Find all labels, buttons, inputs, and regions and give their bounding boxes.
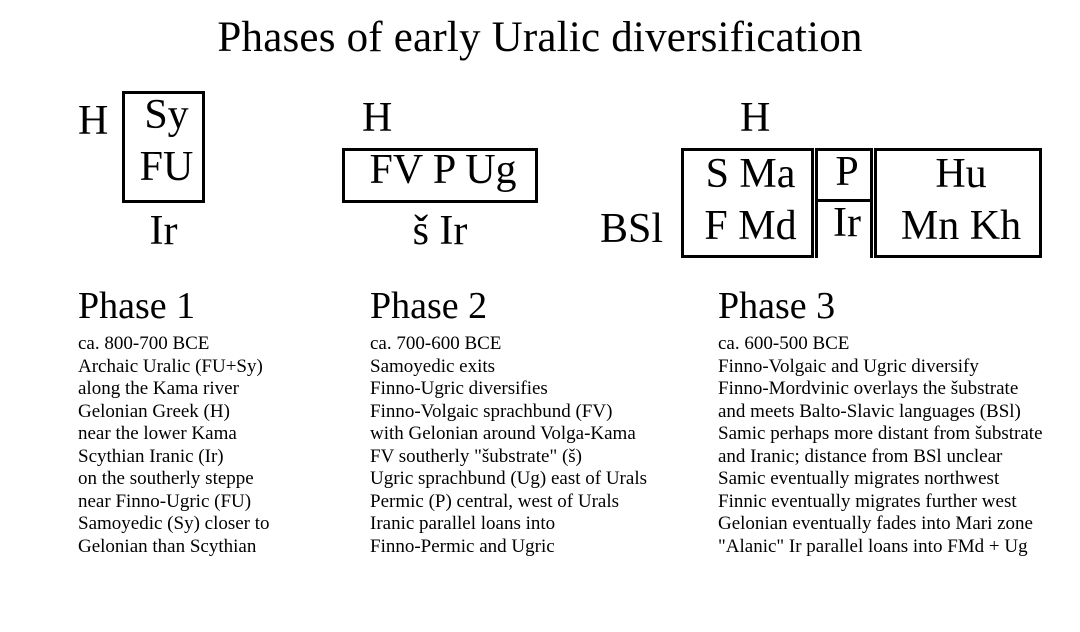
phase-1-heading: Phase 1 [78,283,378,329]
phase-line: and Iranic; distance from BSl unclear [718,446,1080,469]
phase-2-below-label: š Ir [342,208,538,254]
phase-line: ca. 600-500 BCE [718,333,1080,356]
phase-2-box-row: FV P Ug [345,147,541,193]
phase-3-box-ugric: Hu Mn Kh [874,148,1042,258]
phase-line: Iranic parallel loans into [370,513,700,536]
phase-3-box-b-bottom: Mn Kh [877,203,1045,249]
phase-3-box-permic: P [815,148,873,202]
phase-2-lines: ca. 700-600 BCESamoyedic exitsFinno-Ugri… [370,333,700,558]
phase-3-box-p-top: P [818,149,876,195]
phase-1-box: Sy FU [122,91,205,203]
phase-line: Finno-Ugric diversifies [370,378,700,401]
phase-line: Samic perhaps more distant from šubstrat… [718,423,1080,446]
page-title: Phases of early Uralic diversification [0,12,1080,64]
phase-line: ca. 800-700 BCE [78,333,378,356]
phase-line: Samoyedic (Sy) closer to [78,513,378,536]
phase-1-box-row-fu: FU [125,144,208,190]
phase-line: Gelonian than Scythian [78,536,378,559]
phase-2-column: Phase 2 ca. 700-600 BCESamoyedic exitsFi… [370,283,700,558]
phase-3-box-p-bottom: Ir [818,200,876,246]
phase-line: Ugric sprachbund (Ug) east of Urals [370,468,700,491]
phase-3-box-finno-samic: S Ma F Md [681,148,814,258]
phase-line: Finnic eventually migrates further west [718,491,1080,514]
phase-3-box-b-top: Hu [877,151,1045,197]
phase-2-box: FV P Ug [342,148,538,203]
phase-3-column: Phase 3 ca. 600-500 BCEFinno-Volgaic and… [718,283,1080,558]
phase-line: Permic (P) central, west of Urals [370,491,700,514]
phase-line: ca. 700-600 BCE [370,333,700,356]
phase-line: and meets Balto-Slavic languages (BSl) [718,401,1080,424]
phase-line: Gelonian eventually fades into Mari zone [718,513,1080,536]
phase-1-lines: ca. 800-700 BCEArchaic Uralic (FU+Sy)alo… [78,333,378,558]
phase-3-left-label: BSl [600,206,663,252]
phase-line: "Alanic" Ir parallel loans into FMd + Ug [718,536,1080,559]
phase-line: Finno-Mordvinic overlays the šubstrate [718,378,1080,401]
phase-3-above-label: H [740,95,770,141]
phase-2-above-label: H [362,95,392,141]
phase-line: near the lower Kama [78,423,378,446]
phase-line: Archaic Uralic (FU+Sy) [78,356,378,379]
phase-line: Finno-Volgaic sprachbund (FV) [370,401,700,424]
phase-1-below-label: Ir [122,208,205,254]
phase-line: Gelonian Greek (H) [78,401,378,424]
phase-line: on the southerly steppe [78,468,378,491]
phase-line: Samic eventually migrates northwest [718,468,1080,491]
phase-1-column: Phase 1 ca. 800-700 BCEArchaic Uralic (F… [78,283,378,558]
phase-line: Finno-Permic and Ugric [370,536,700,559]
phase-line: Samoyedic exits [370,356,700,379]
phase-line: FV southerly "šubstrate" (š) [370,446,700,469]
phase-3-box-iranic: Ir [815,202,873,258]
phase-3-box-a-top: S Ma [684,151,817,197]
phase-2-heading: Phase 2 [370,283,700,329]
phase-1-left-label: H [78,98,108,144]
phase-line: near Finno-Ugric (FU) [78,491,378,514]
phase-1-box-row-sy: Sy [125,92,208,138]
phase-3-lines: ca. 600-500 BCEFinno-Volgaic and Ugric d… [718,333,1080,558]
phase-3-box-a-bottom: F Md [684,203,817,249]
phase-line: Finno-Volgaic and Ugric diversify [718,356,1080,379]
phase-line: Scythian Iranic (Ir) [78,446,378,469]
phase-3-heading: Phase 3 [718,283,1080,329]
phase-line: with Gelonian around Volga-Kama [370,423,700,446]
phase-line: along the Kama river [78,378,378,401]
